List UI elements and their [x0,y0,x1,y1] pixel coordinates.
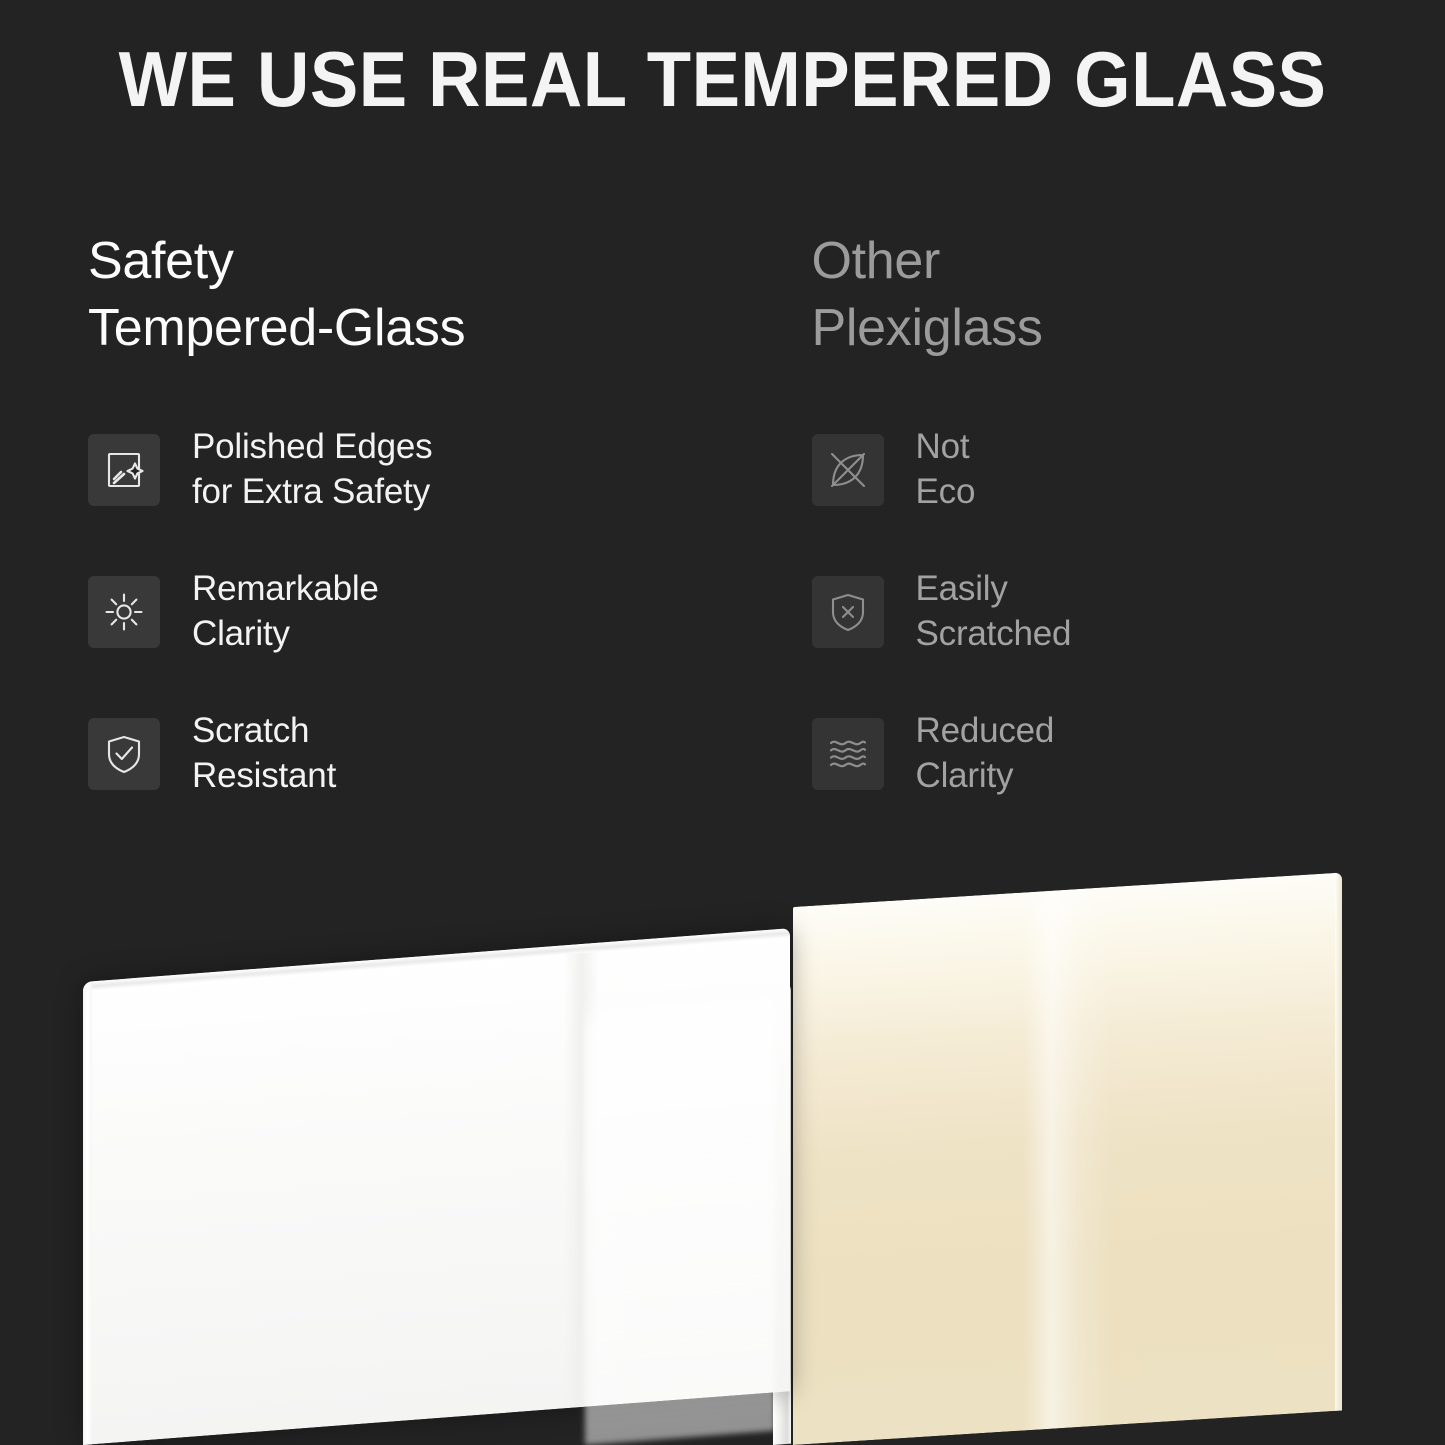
tempered-glass-reflection [585,986,775,1445]
glass-comparison-image [0,840,1445,1445]
feature-label: Not Eco [916,425,976,515]
feature-label: Reduced Clarity [916,709,1055,799]
header: WE USE REAL TEMPERED GLASS [0,40,1445,118]
wavy-lines-icon [812,718,884,790]
shield-x-icon [812,576,884,648]
page-title: WE USE REAL TEMPERED GLASS [51,40,1395,118]
feature-label: Easily Scratched [916,567,1072,657]
leaf-crossed-out-icon [812,434,884,506]
column-plexiglass: Other Plexiglass Not Eco [0,228,812,789]
plexiglass-panel [793,872,1342,1445]
comparison-columns: Safety Tempered-Glass Polished Edges for… [0,228,1445,789]
